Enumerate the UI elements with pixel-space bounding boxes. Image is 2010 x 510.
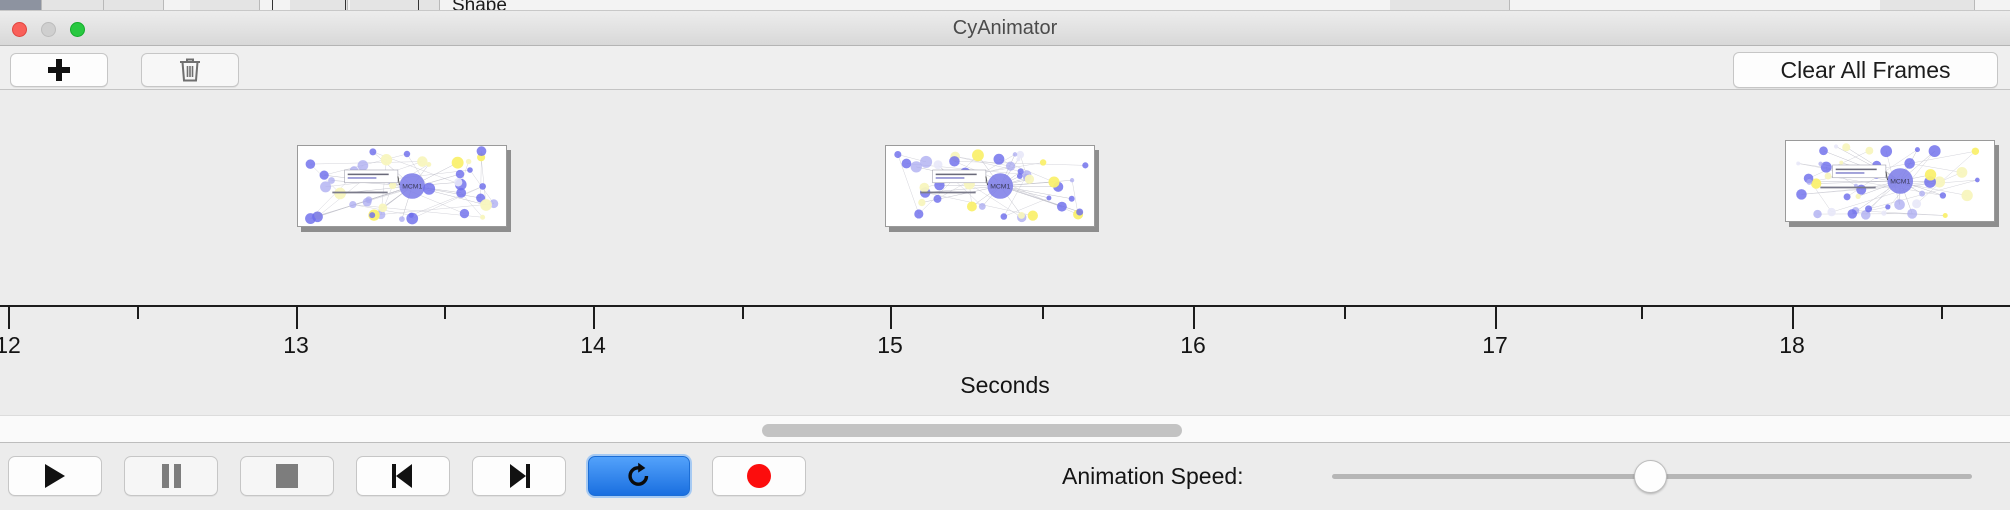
axis-tick-minor [1344, 307, 1346, 319]
axis-tick-minor [137, 307, 139, 319]
axis-tick-label: 13 [283, 332, 309, 359]
axis-tick-label: 16 [1180, 332, 1206, 359]
axis-tick-label: 17 [1482, 332, 1508, 359]
playback-control-bar: Animation Speed: [0, 443, 2010, 510]
timeline-frame[interactable]: MCM1 [297, 145, 507, 227]
frame-plate[interactable]: MCM1 [1785, 140, 1995, 222]
add-frame-button[interactable] [10, 53, 108, 87]
timeline-frame[interactable]: MCM1 [1785, 140, 1995, 222]
svg-text:MCM1: MCM1 [402, 183, 422, 190]
play-button[interactable] [8, 456, 102, 496]
axis-tick-major [1193, 307, 1195, 329]
window-title: CyAnimator [0, 11, 2010, 46]
animation-speed-label: Animation Speed: [1062, 456, 1244, 496]
timeline-frame[interactable]: MCM1 [885, 145, 1095, 227]
axis-tick-major [8, 307, 10, 329]
stop-button[interactable] [240, 456, 334, 496]
network-thumbnail-graphic: MCM1 [1786, 141, 1994, 221]
previous-frame-button[interactable] [356, 456, 450, 496]
axis-tick-minor [742, 307, 744, 319]
background-shape-label: Shape [452, 0, 507, 11]
loop-icon [624, 461, 654, 491]
pause-button[interactable] [124, 456, 218, 496]
network-thumbnail-graphic: MCM1 [298, 146, 506, 226]
axis-tick-major [890, 307, 892, 329]
play-icon [45, 464, 65, 488]
pause-icon [162, 464, 181, 488]
record-button[interactable] [712, 456, 806, 496]
cyanimator-window: Shape CyAnimator Clear All Frames MCM1MC… [0, 0, 2010, 510]
clear-all-frames-label: Clear All Frames [1781, 57, 1951, 84]
loop-button[interactable] [588, 456, 690, 496]
axis-tick-minor [1042, 307, 1044, 319]
scrollbar-thumb[interactable] [762, 424, 1182, 437]
title-bar: CyAnimator [0, 11, 2010, 46]
axis-tick-label: 15 [877, 332, 903, 359]
axis-tick-major [1495, 307, 1497, 329]
skip-forward-icon [508, 464, 530, 488]
animation-speed-slider[interactable] [1332, 474, 1972, 479]
delete-frame-button[interactable] [141, 53, 239, 87]
skip-back-icon [392, 464, 414, 488]
next-frame-button[interactable] [472, 456, 566, 496]
network-thumbnail-graphic: MCM1 [886, 146, 1094, 226]
clear-all-frames-button[interactable]: Clear All Frames [1733, 52, 1998, 88]
record-icon [747, 464, 771, 488]
background-window-strip: Shape [0, 0, 2010, 11]
frame-plate[interactable]: MCM1 [885, 145, 1095, 227]
toolbar: Clear All Frames [0, 46, 2010, 90]
axis-tick-minor [1641, 307, 1643, 319]
timeline-axis [0, 305, 2010, 307]
axis-title: Seconds [0, 372, 2010, 399]
timeline-panel[interactable]: MCM1MCM1MCM1 12131415161718 Seconds [0, 90, 2010, 415]
svg-text:MCM1: MCM1 [1890, 178, 1910, 185]
axis-tick-major [296, 307, 298, 329]
axis-tick-major [1792, 307, 1794, 329]
stop-icon [276, 464, 298, 488]
trash-icon [178, 57, 202, 83]
axis-tick-label: 12 [0, 332, 21, 359]
axis-tick-label: 14 [580, 332, 606, 359]
frame-plate[interactable]: MCM1 [297, 145, 507, 227]
axis-tick-label: 18 [1779, 332, 1805, 359]
axis-tick-major [593, 307, 595, 329]
svg-text:MCM1: MCM1 [990, 183, 1010, 190]
plus-icon [48, 59, 70, 81]
frames-area[interactable]: MCM1MCM1MCM1 [0, 90, 2010, 305]
axis-tick-minor [1941, 307, 1943, 319]
axis-tick-minor [444, 307, 446, 319]
slider-thumb[interactable] [1634, 460, 1667, 493]
horizontal-scrollbar[interactable] [0, 415, 2010, 443]
